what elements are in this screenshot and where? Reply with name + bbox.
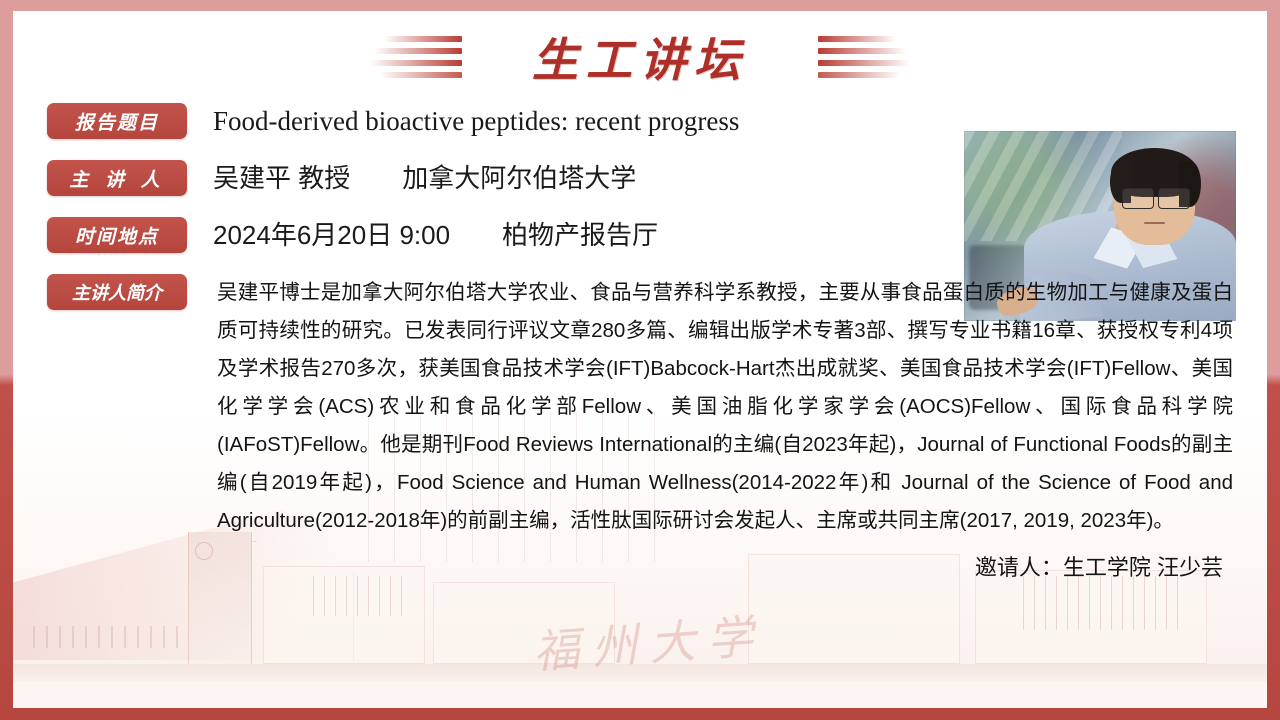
poster-sheet: 福州大学 生工讲坛 (13, 11, 1267, 708)
stripes-decoration-left-icon (370, 35, 462, 79)
inviter-line: 邀请人：生工学院 汪少芸 (217, 550, 1233, 582)
stripes-decoration-right-icon (818, 35, 910, 79)
label-topic: 报告题目 (47, 103, 187, 139)
watermark-band (13, 664, 1267, 682)
row-time-place: 时间地点 2024年6月20日 9:00 柏物产报告厅 (47, 217, 1267, 253)
page-title: 生工讲坛 (532, 24, 748, 90)
watermark-script: 福州大学 (531, 600, 767, 682)
poster-frame: 福州大学 生工讲坛 (0, 0, 1280, 720)
watermark-grid (313, 576, 409, 616)
watermark-base (13, 682, 1267, 708)
label-speaker: 主 讲 人 (47, 160, 187, 196)
row-speaker: 主 讲 人 吴建平 教授 加拿大阿尔伯塔大学 (47, 160, 1267, 196)
value-topic: Food-derived bioactive peptides: recent … (213, 103, 739, 139)
poster-header: 生工讲坛 (13, 11, 1267, 103)
bio-section: 吴建平博士是加拿大阿尔伯塔大学农业、食品与营养科学系教授，主要从事食品蛋白质的生… (13, 274, 1267, 582)
bio-text: 吴建平博士是加拿大阿尔伯塔大学农业、食品与营养科学系教授，主要从事食品蛋白质的生… (217, 274, 1233, 540)
watermark-building (975, 570, 1207, 664)
watermark-grid (33, 626, 183, 648)
watermark-grid (1023, 576, 1183, 630)
label-time-place: 时间地点 (47, 217, 187, 253)
value-speaker: 吴建平 教授 加拿大阿尔伯塔大学 (213, 160, 636, 196)
row-topic: 报告题目 Food-derived bioactive peptides: re… (47, 103, 1267, 139)
watermark-building (433, 582, 615, 664)
value-time-place: 2024年6月20日 9:00 柏物产报告厅 (213, 217, 658, 253)
